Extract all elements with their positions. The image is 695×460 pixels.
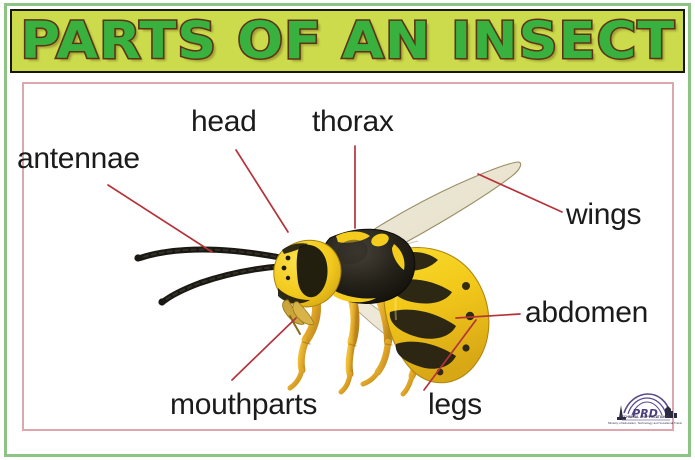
logo-caption-secondary: Ministry of Education, Technology and Vo… <box>608 421 682 425</box>
page-title: PARTS OF AN INSECT <box>20 16 675 67</box>
label-wings: wings <box>566 198 641 232</box>
logo-caption-primary: TECHNICAL AND VOCATIONAL <box>608 415 682 419</box>
label-legs: legs <box>428 388 482 422</box>
title-banner: PARTS OF AN INSECT <box>10 9 685 73</box>
organization-logo: PRD TECHNICAL AND VOCATIONAL Ministry of… <box>608 385 682 431</box>
label-thorax: thorax <box>312 105 394 139</box>
label-head: head <box>191 105 257 139</box>
label-antennae: antennae <box>17 142 140 176</box>
label-mouthparts: mouthparts <box>170 388 317 422</box>
label-abdomen: abdomen <box>525 296 648 330</box>
insect-parts-poster: PARTS OF AN INSECT <box>0 0 695 460</box>
